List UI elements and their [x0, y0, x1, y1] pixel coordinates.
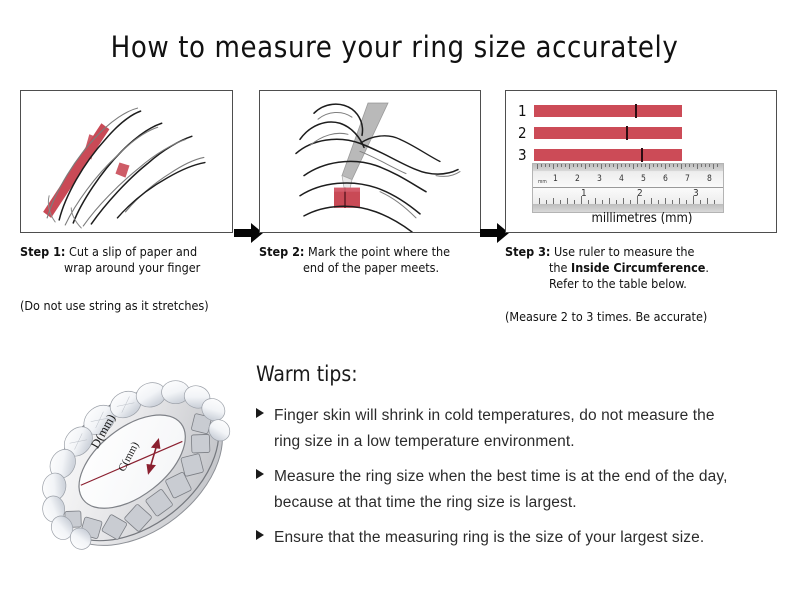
step-1-text-line2: wrap around your finger — [20, 260, 233, 276]
strip-mark — [626, 126, 628, 140]
step-3-caption: Step 3: Use ruler to measure the the Ins… — [505, 244, 777, 292]
paper-strip — [534, 105, 682, 117]
tip-text: Ensure that the measuring ring is the si… — [274, 525, 704, 551]
ruler-illustration: 1 2 3 4 5 6 7 8 mm 1 2 3 — [532, 163, 724, 213]
strip-number: 1 — [518, 104, 534, 119]
step-2-panel — [259, 90, 481, 233]
ruler-cm-tick-label: 5 — [641, 175, 646, 184]
ruler-cm-tick-label: 4 — [619, 175, 624, 184]
strip-number: 2 — [518, 126, 534, 141]
ruler-unit-mark: mm — [538, 178, 547, 187]
ruler-cm-tick-label: 8 — [707, 175, 712, 184]
tip-item: Measure the ring size when the best time… — [256, 464, 776, 516]
step-2-column: Step 2: Mark the point where the end of … — [259, 90, 481, 276]
tip-text: Finger skin will shrink in cold temperat… — [274, 403, 744, 455]
step-2-label: Step 2: — [259, 244, 304, 259]
bullet-triangle-icon — [256, 403, 274, 418]
step-3-label: Step 3: — [505, 244, 550, 259]
step-3-note: (Measure 2 to 3 times. Be accurate) — [505, 309, 777, 325]
step-1-caption: Step 1: Cut a slip of paper and wrap aro… — [20, 244, 233, 276]
ruler-cm-tick-label: 1 — [553, 175, 558, 184]
hand-marking-paper-icon — [260, 91, 480, 232]
paper-strips-group: 1 2 3 — [518, 102, 703, 168]
strip-number: 3 — [518, 148, 534, 163]
strip-row: 1 — [518, 102, 703, 120]
step-1-text-line1: Cut a slip of paper and — [69, 244, 197, 259]
step-3-panel: 1 2 3 — [505, 90, 777, 233]
ruler-cm-tick-label: 7 — [685, 175, 690, 184]
strip-mark — [635, 104, 637, 118]
step-2-text-line1: Mark the point where the — [308, 244, 450, 259]
eternity-ring-illustration — [22, 352, 247, 577]
paper-strip — [534, 127, 682, 139]
strip-mark — [641, 148, 643, 162]
ruler-cm-tick-label: 6 — [663, 175, 668, 184]
bullet-triangle-icon — [256, 464, 274, 479]
step-1-column: Step 1: Cut a slip of paper and wrap aro… — [20, 90, 233, 314]
step-3-line2-emphasis: Inside Circumference — [571, 260, 705, 275]
step-1-panel — [20, 90, 233, 233]
hand-with-paper-slip-icon — [21, 91, 232, 232]
strip-row: 2 — [518, 124, 703, 142]
step-3-line2-pre: the — [549, 260, 571, 275]
tip-item: Finger skin will shrink in cold temperat… — [256, 403, 776, 455]
ruler-cm-tick-label: 2 — [575, 175, 580, 184]
tip-text: Measure the ring size when the best time… — [274, 464, 744, 516]
step-3-text-line2: the Inside Circumference. — [505, 260, 777, 276]
ruler-cm-tick-label: 3 — [597, 175, 602, 184]
strip-row: 3 — [518, 146, 703, 164]
bottom-section: D(mm) C(mm) Warm tips: Finger skin will … — [0, 352, 789, 606]
warm-tips-section: Warm tips: Finger skin will shrink in co… — [256, 362, 776, 560]
step-3-text-line3: Refer to the table below. — [505, 276, 777, 292]
step-2-text-line2: end of the paper meets. — [259, 260, 481, 276]
bullet-triangle-icon — [256, 525, 274, 540]
tip-item: Ensure that the measuring ring is the si… — [256, 525, 776, 551]
steps-row: Step 1: Cut a slip of paper and wrap aro… — [0, 90, 789, 340]
ruler-unit-caption: millimetres (mm) — [506, 211, 777, 226]
step-3-column: 1 2 3 — [505, 90, 777, 325]
step-1-label: Step 1: — [20, 244, 65, 259]
step-3-line2-post: . — [705, 260, 709, 275]
paper-strip — [534, 149, 682, 161]
step-3-text-line1: Use ruler to measure the — [554, 244, 694, 259]
step-2-caption: Step 2: Mark the point where the end of … — [259, 244, 481, 276]
step-1-note: (Do not use string as it stretches) — [20, 298, 233, 314]
warm-tips-title: Warm tips: — [256, 362, 776, 386]
ring-diagram: D(mm) C(mm) — [22, 352, 247, 577]
page-title: How to measure your ring size accurately — [0, 30, 789, 64]
